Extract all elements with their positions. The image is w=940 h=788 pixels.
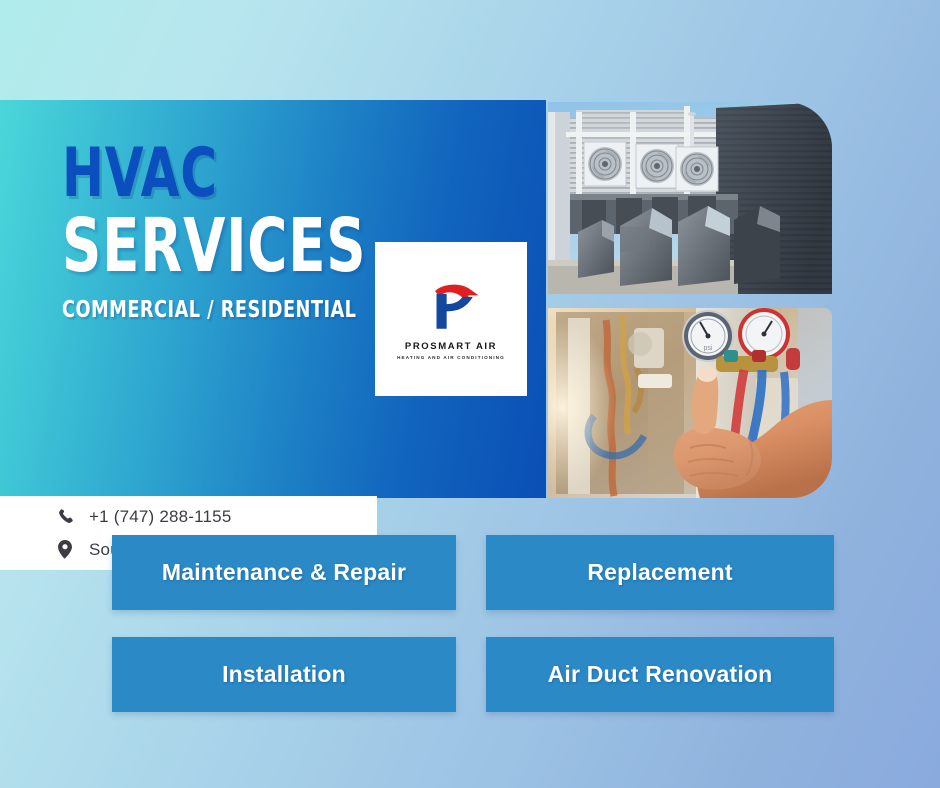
page-title-line1: HVAC — [62, 142, 324, 207]
contact-phone-number: +1 (747) 288-1155 — [89, 507, 232, 527]
svg-text:psi: psi — [704, 345, 713, 352]
page-subtitle: COMMERCIAL / RESIDENTIAL — [62, 297, 337, 323]
hvac-services-poster: HVAC SERVICES COMMERCIAL / RESIDENTIAL P… — [0, 0, 940, 788]
service-button-air-duct-renovation[interactable]: Air Duct Renovation — [486, 637, 834, 712]
brand-logo-card: PROSMART AIR HEATING AND AIR CONDITIONIN… — [375, 242, 527, 396]
logo-tagline: HEATING AND AIR CONDITIONING — [397, 355, 505, 360]
phone-icon — [54, 508, 76, 525]
technician-thumbs-up-illustration: psi — [548, 308, 832, 498]
service-button-maintenance-repair[interactable]: Maintenance & Repair — [112, 535, 456, 610]
services-button-grid: Maintenance & Repair Replacement Install… — [112, 535, 834, 712]
rooftop-hvac-units-photo — [548, 102, 832, 294]
rooftop-hvac-units-illustration — [548, 102, 832, 294]
page-title-line2: SERVICES — [62, 209, 324, 283]
map-pin-icon — [54, 540, 76, 559]
hero-title-block: HVAC SERVICES COMMERCIAL / RESIDENTIAL — [62, 142, 382, 323]
service-button-replacement[interactable]: Replacement — [486, 535, 834, 610]
logo-company-name: PROSMART AIR — [405, 341, 497, 352]
hero-panel: HVAC SERVICES COMMERCIAL / RESIDENTIAL P… — [0, 100, 546, 498]
technician-thumbs-up-photo: psi — [548, 308, 832, 498]
service-button-installation[interactable]: Installation — [112, 637, 456, 712]
contact-phone-row[interactable]: +1 (747) 288-1155 — [54, 500, 377, 533]
prosmart-air-logo-icon — [414, 278, 488, 336]
